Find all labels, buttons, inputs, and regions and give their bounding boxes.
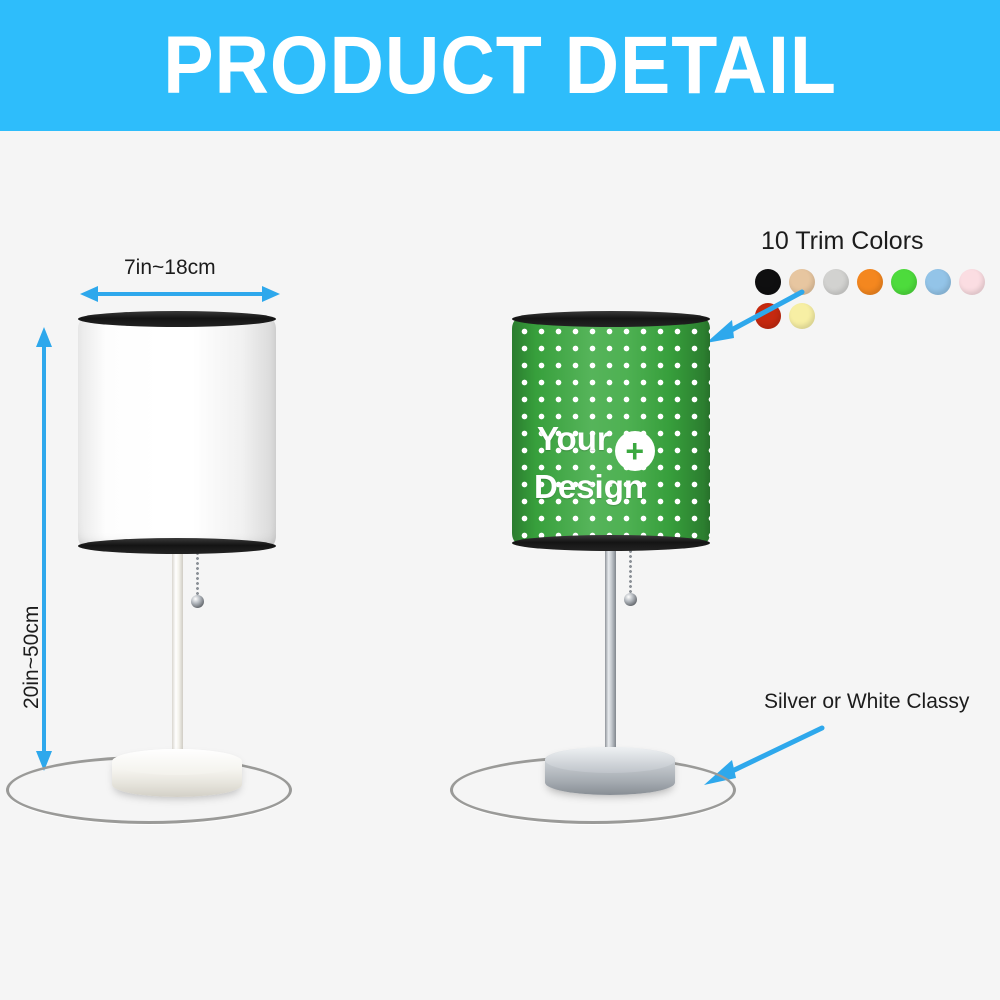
- white-lamp-base-top: [112, 749, 242, 775]
- plus-badge-icon: +: [615, 431, 655, 471]
- white-lamp-base: [112, 749, 242, 797]
- green-lampshade: Your+ Design: [512, 311, 710, 551]
- base-finish-label: Silver or White Classy: [764, 690, 969, 714]
- header-banner: PRODUCT DETAIL: [0, 0, 1000, 131]
- white-lampshade-surface: [78, 319, 276, 546]
- your-design-line-1: Your: [537, 420, 610, 457]
- green-lamp-base-top: [545, 747, 675, 773]
- green-lamp-pole: [605, 549, 616, 764]
- trim-color-swatch-orange[interactable]: [857, 269, 883, 295]
- white-lampshade-trim-bottom: [78, 538, 276, 554]
- trim-color-swatch-green[interactable]: [891, 269, 917, 295]
- width-dimension-arrow: [80, 285, 280, 305]
- white-lamp-chain-ball[interactable]: [191, 595, 204, 608]
- white-lamp-pull-chain[interactable]: [196, 551, 199, 599]
- trim-colors-title: 10 Trim Colors: [761, 227, 924, 256]
- product-stage: Your+ Design 7in~18cm 20in~50cm 10 T: [0, 131, 1000, 1000]
- green-lampshade-trim-bottom: [512, 535, 710, 551]
- green-lampshade-trim-top: [512, 311, 710, 327]
- trim-color-swatch-light-gray[interactable]: [823, 269, 849, 295]
- trim-colors-pointer-arrow: [700, 286, 810, 346]
- green-lamp-base: [545, 747, 675, 795]
- green-lamp-chain-ball[interactable]: [624, 593, 637, 606]
- green-lamp-pull-chain[interactable]: [629, 549, 632, 597]
- white-lamp-pole: [172, 551, 183, 766]
- width-dimension-label: 7in~18cm: [124, 256, 216, 280]
- your-design-line-2: Design: [534, 471, 710, 503]
- page-title: PRODUCT DETAIL: [163, 25, 837, 107]
- white-lampshade-trim-top: [78, 311, 276, 327]
- product-detail-image: PRODUCT DETAIL: [0, 0, 1000, 1000]
- trim-color-swatch-pink[interactable]: [959, 269, 985, 295]
- trim-color-swatch-light-blue[interactable]: [925, 269, 951, 295]
- white-lampshade: [78, 311, 276, 554]
- your-design-artwork: Your+ Design: [512, 423, 710, 503]
- height-dimension-arrow: [33, 327, 55, 771]
- green-lampshade-surface: Your+ Design: [512, 319, 710, 543]
